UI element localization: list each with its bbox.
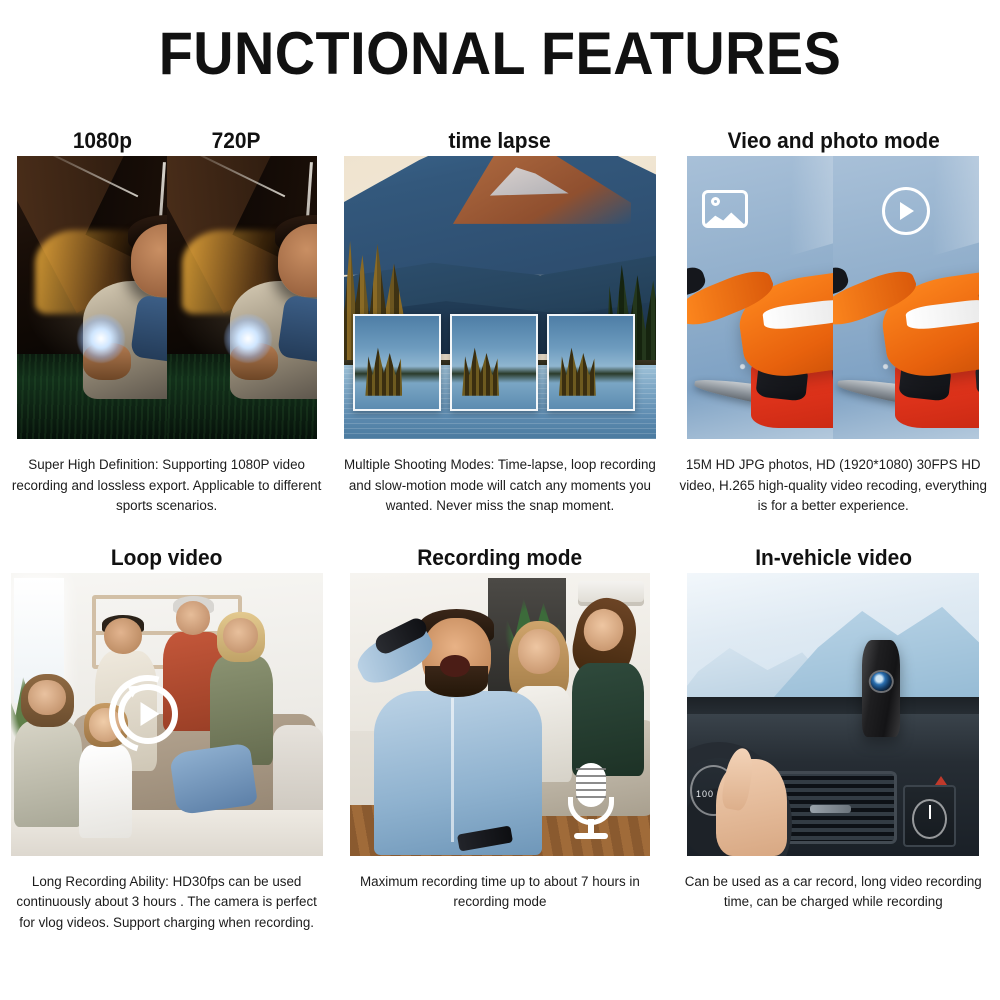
feature-heading-time-lapse: time lapse [342,118,659,154]
feature-caption-loop-video: Long Recording Ability: HD30fps can be u… [9,872,325,934]
feature-row-2: Loop video [0,535,1000,934]
page-title: FUNCTIONAL FEATURES [35,22,965,85]
image-half-video-mode [833,156,979,439]
feature-caption-in-vehicle: Can be used as a car record, long video … [675,872,991,913]
feature-grid: 1080p 720P [0,118,1000,933]
feature-heading-loop-video: Loop video [8,535,325,571]
speedometer-label: 100 [696,789,714,799]
feature-heading-in-vehicle: In-vehicle video [675,535,992,571]
feature-heading-resolution: 1080p 720P [8,118,325,154]
feature-cell-resolution: 1080p 720P [0,118,333,517]
feature-image-recording-mode [350,573,650,856]
heading-1080p: 1080p [73,128,132,154]
time-lapse-frames [353,314,646,410]
feature-image-time-lapse [344,156,656,439]
product-feature-page: FUNCTIONAL FEATURES 1080p 720P [0,0,1000,1000]
image-half-photo-mode [687,156,833,439]
camera-lens-icon [871,672,891,691]
feature-heading-recording-mode: Recording mode [342,535,659,571]
body-camera-device [862,640,900,736]
feature-heading-video-photo: Vieo and photo mode [675,118,992,154]
feature-caption-recording-mode: Maximum recording time up to about 7 hou… [342,872,658,913]
feature-image-in-vehicle: 100 [687,573,979,856]
feature-caption-video-photo: 15M HD JPG photos, HD (1920*1080) 30FPS … [675,455,991,517]
feature-image-loop-video [11,573,323,856]
feature-cell-video-photo: Vieo and photo mode [667,118,1000,517]
time-lapse-frame [547,314,635,410]
photo-icon [702,190,748,228]
feature-image-resolution [17,156,317,439]
feature-cell-recording-mode: Recording mode [333,535,666,934]
feature-cell-time-lapse: time lapse [333,118,666,517]
time-lapse-frame [353,314,441,410]
image-half-720p [167,156,317,439]
feature-cell-loop-video: Loop video [0,535,333,934]
feature-cell-in-vehicle: In-vehicle video 100 [667,535,1000,934]
loop-play-icon [109,675,187,753]
feature-row-1: 1080p 720P [0,118,1000,517]
feature-caption-resolution: Super High Definition: Supporting 1080P … [9,455,325,517]
time-lapse-frame [450,314,538,410]
heading-720p: 720P [212,128,261,154]
feature-caption-time-lapse: Multiple Shooting Modes: Time-lapse, loo… [342,455,658,517]
image-half-1080p [17,156,167,439]
microphone-icon [565,763,617,841]
feature-image-video-photo [687,156,979,439]
